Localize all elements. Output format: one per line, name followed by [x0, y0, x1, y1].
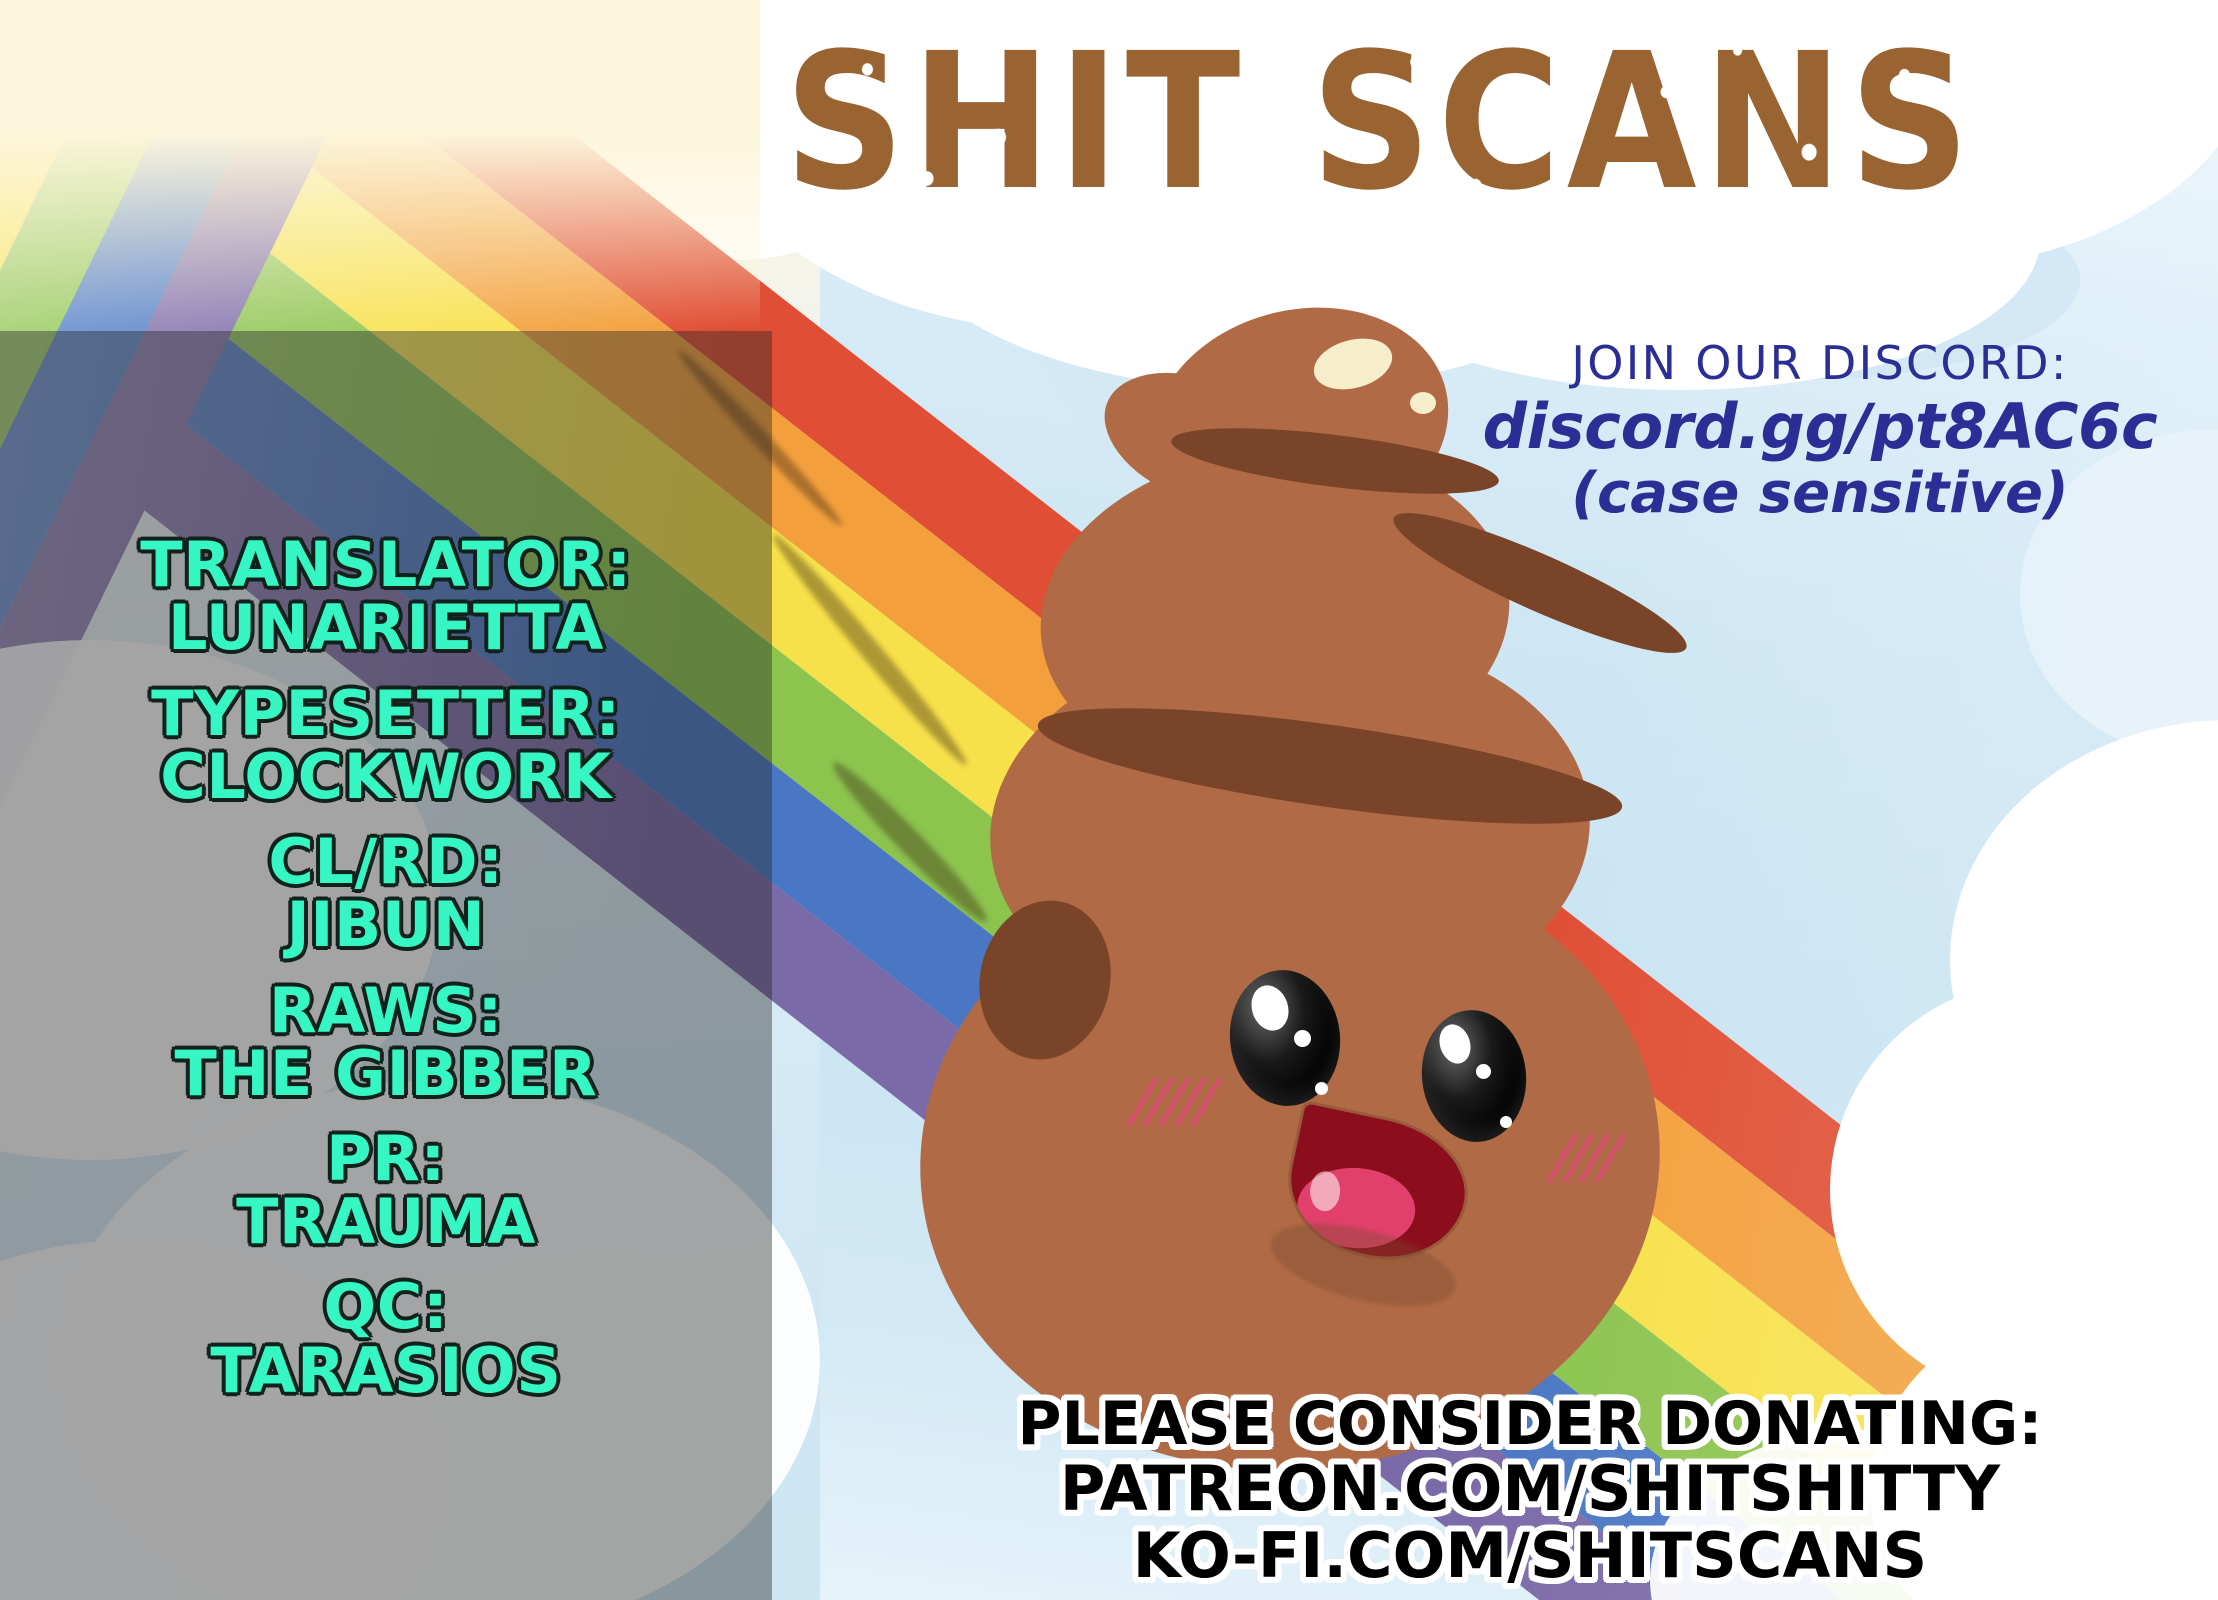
blush-right	[1560, 1130, 1670, 1200]
page-title-text: SHIT SCANS	[784, 28, 1976, 216]
blush-left	[1140, 1074, 1260, 1144]
credit-role: RAWS:	[175, 979, 598, 1042]
credit-name: LUNARIETTA	[140, 596, 632, 659]
discord-join-label: JOIN OUR DISCORD:	[1450, 338, 2190, 390]
eye-highlight	[1294, 1030, 1311, 1047]
credit-name: CLOCKWORK	[151, 745, 621, 808]
credit-name: JIBUN	[268, 893, 503, 956]
credit-role: TRANSLATOR:	[140, 533, 632, 596]
credits-page: SHIT SCANS JOIN OUR DISCORD: discord.gg/…	[0, 0, 2218, 1600]
page-title: SHIT SCANS	[560, 28, 2200, 216]
credit-item-pr: PR: TRAUMA	[236, 1127, 536, 1253]
poop-highlight	[1410, 392, 1436, 414]
credit-name: TRAUMA	[236, 1190, 536, 1253]
credit-role: QC:	[210, 1275, 561, 1338]
eye-highlight	[1476, 1064, 1491, 1079]
credit-name: THE GIBBER	[175, 1042, 598, 1105]
discord-block: JOIN OUR DISCORD: discord.gg/pt8AC6c (ca…	[1450, 338, 2190, 526]
credit-item-raws: RAWS: THE GIBBER	[175, 979, 598, 1105]
donate-patreon-url[interactable]: PATREON.COM/SHITSHITTY	[1000, 1456, 2060, 1522]
donate-block: PLEASE CONSIDER DONATING: PATREON.COM/SH…	[1000, 1392, 2060, 1589]
eye-highlight	[1315, 1082, 1328, 1095]
discord-url[interactable]: discord.gg/pt8AC6c	[1450, 392, 2190, 461]
credits-list: TRANSLATOR: LUNARIETTA TYPESETTER: CLOCK…	[0, 331, 772, 1600]
donate-kofi-url[interactable]: KO-FI.COM/SHITSCANS	[1000, 1523, 2060, 1589]
credit-role: CL/RD:	[268, 830, 503, 893]
credit-item-translator: TRANSLATOR: LUNARIETTA	[140, 533, 632, 659]
discord-case-note: (case sensitive)	[1450, 463, 2190, 526]
donate-heading: PLEASE CONSIDER DONATING:	[1000, 1392, 2060, 1456]
credit-item-typesetter: TYPESETTER: CLOCKWORK	[151, 682, 621, 808]
eye-highlight	[1500, 1116, 1512, 1128]
credit-role: TYPESETTER:	[151, 682, 621, 745]
credit-name: TARASIOS	[210, 1339, 561, 1402]
credits-panel: TRANSLATOR: LUNARIETTA TYPESETTER: CLOCK…	[0, 331, 772, 1600]
credit-role: PR:	[236, 1127, 536, 1190]
credit-item-qc: QC: TARASIOS	[210, 1275, 561, 1401]
credit-item-cl-rd: CL/RD: JIBUN	[268, 830, 503, 956]
